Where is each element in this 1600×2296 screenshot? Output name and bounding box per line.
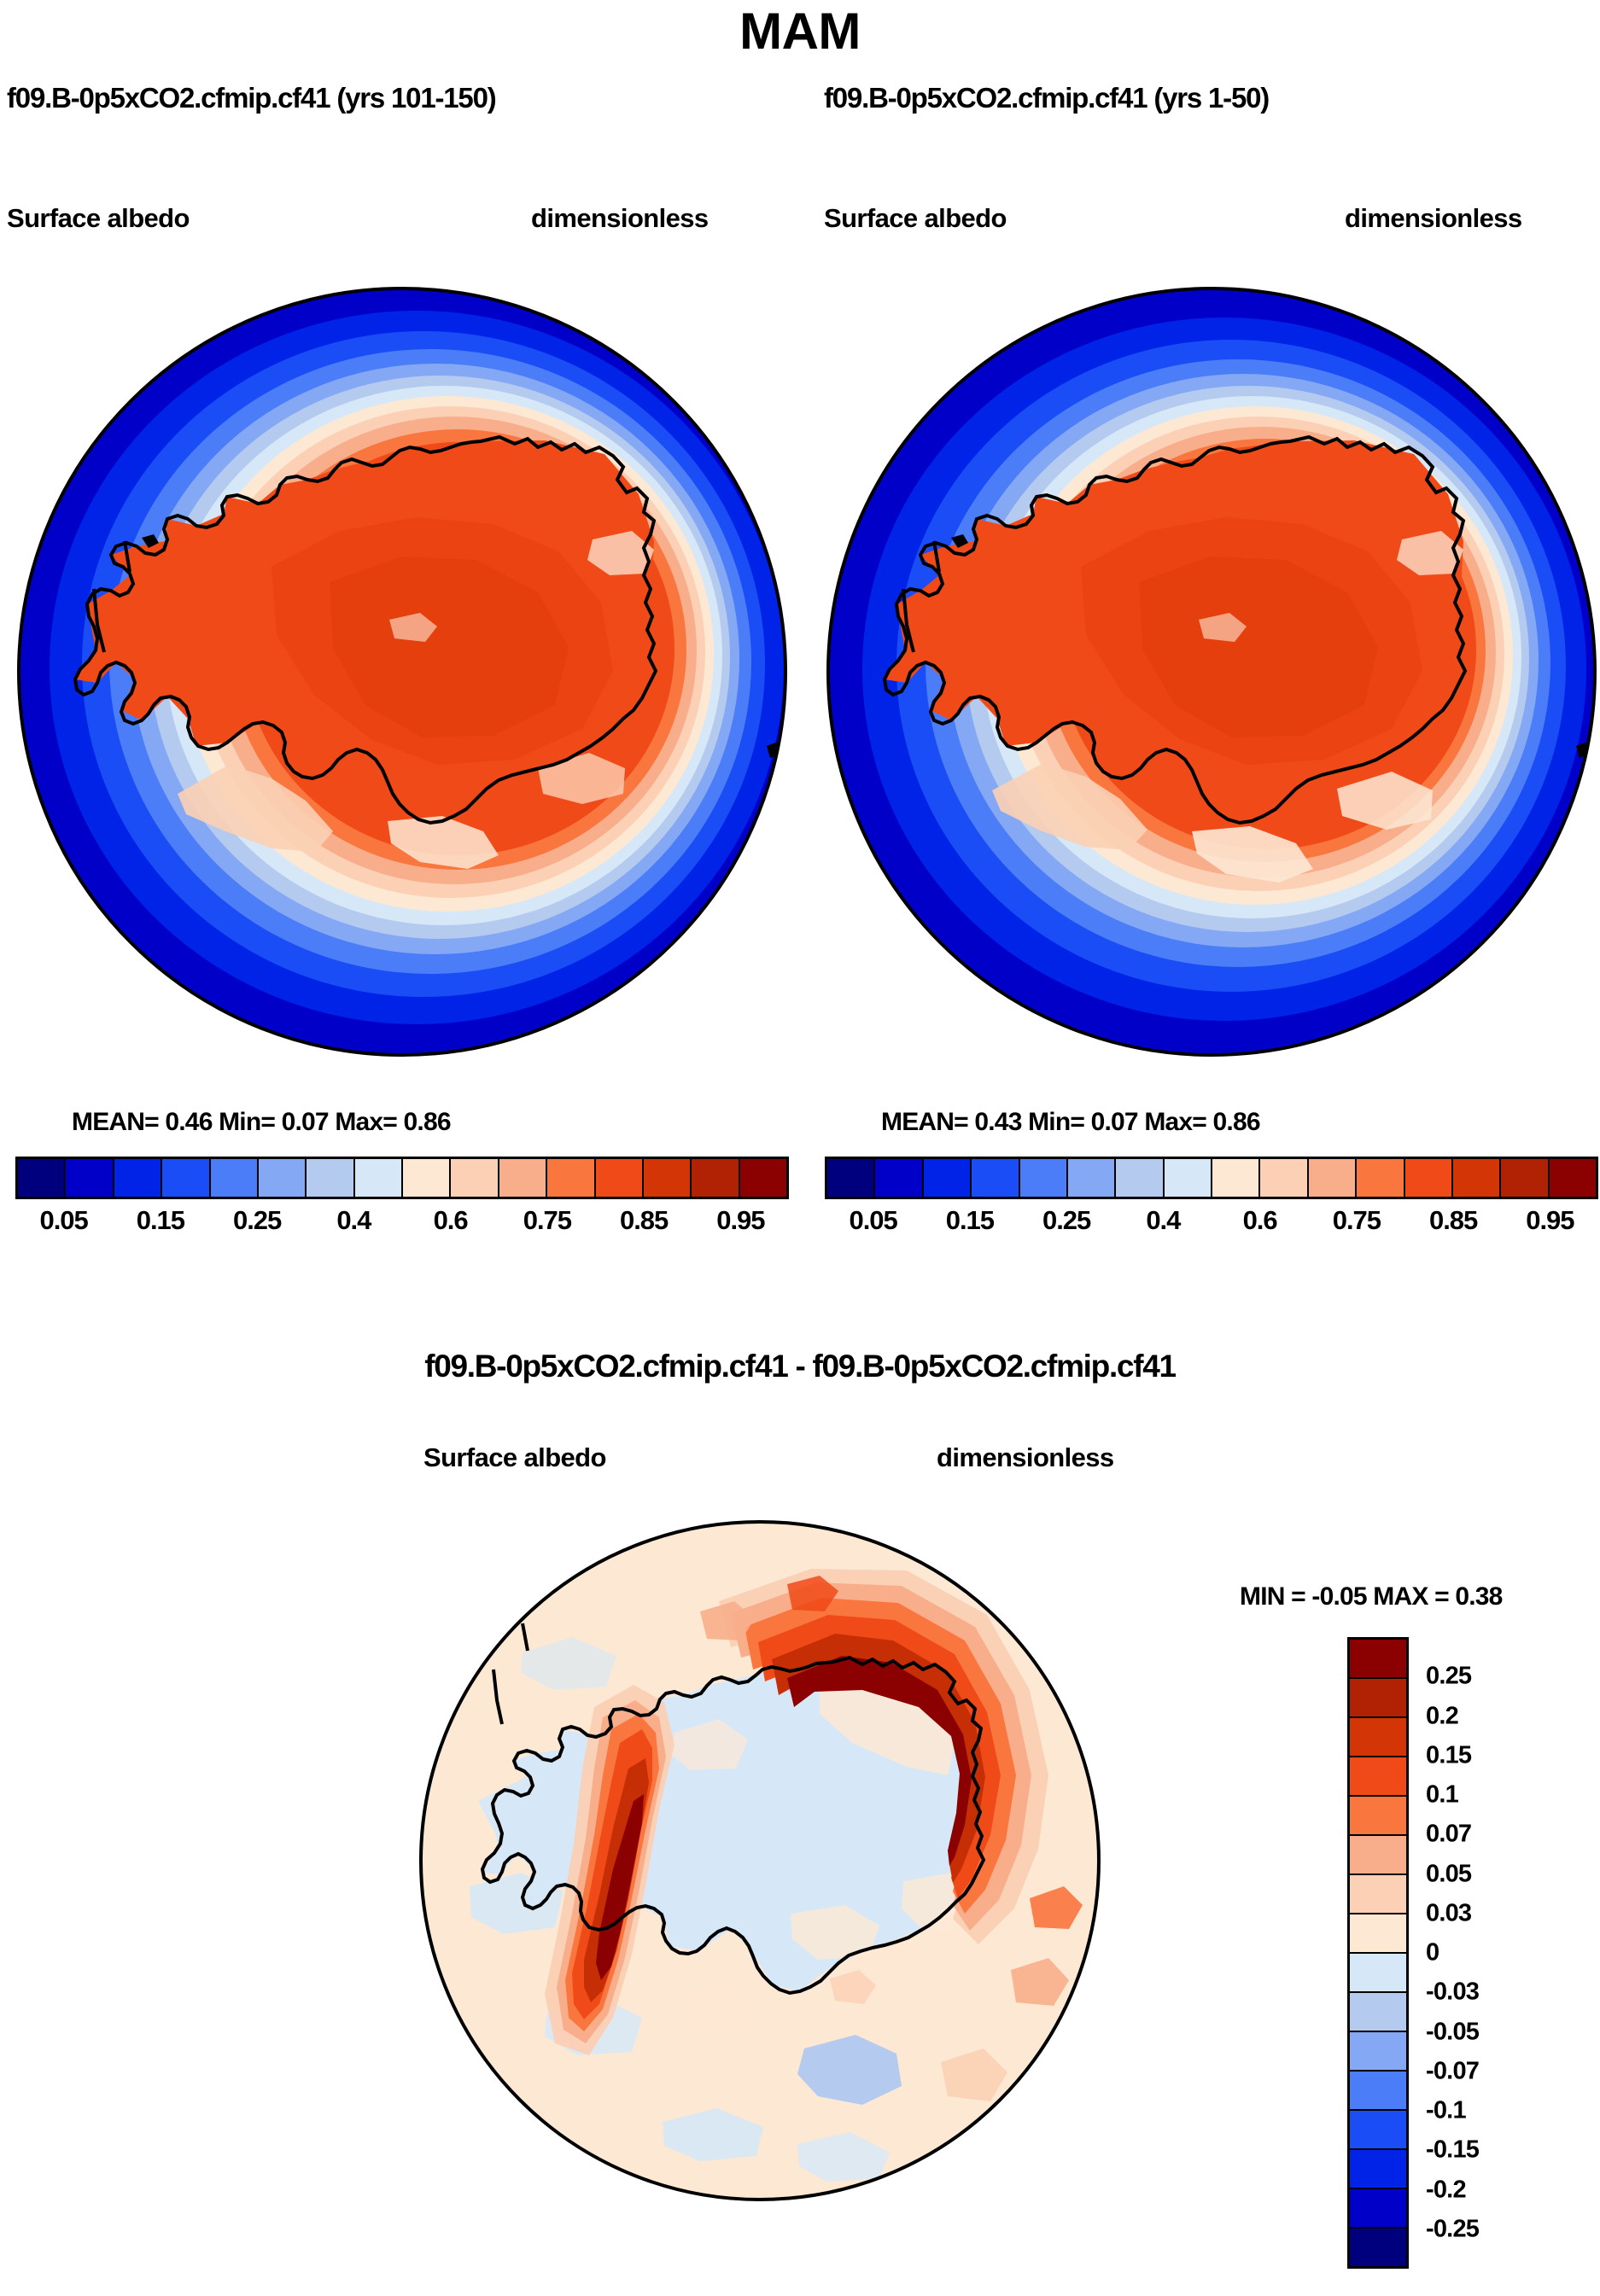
difference-units-label: dimensionless [937, 1442, 1114, 1473]
colorbar-tick-label: -0.07 [1426, 2057, 1479, 2085]
difference-map-svg [418, 1519, 1101, 2202]
colorbar-cell [1350, 1914, 1406, 1954]
colorbar-cell [1350, 2150, 1406, 2189]
colorbar-tick-label: 0.1 [1426, 1781, 1458, 1809]
colorbar-tick-label: 0.6 [1243, 1205, 1277, 1236]
colorbar-cell [1165, 1159, 1212, 1197]
colorbar-cell [1350, 2032, 1406, 2072]
right-polar-map [825, 285, 1598, 1058]
colorbar-cell [1350, 2111, 1406, 2150]
right-colorbar-ticks: 0.050.150.250.40.60.750.850.95 [825, 1205, 1598, 1243]
colorbar-cell [1501, 1159, 1549, 1197]
colorbar-cell [162, 1159, 210, 1197]
colorbar-cell [1212, 1159, 1260, 1197]
colorbar-tick-label: 0.85 [620, 1205, 668, 1236]
colorbar-tick-label: 0.05 [1426, 1860, 1471, 1888]
colorbar-cell [1309, 1159, 1357, 1197]
case-title-left: f09.B-0p5xCO2.cfmip.cf41 (yrs 101-150) [7, 82, 496, 114]
colorbar-cell [1350, 1718, 1406, 1757]
right-map-contours [828, 288, 1595, 1055]
colorbar-cell [1350, 2229, 1406, 2266]
difference-colorbar-ticks: 0.250.20.150.10.070.050.030-0.03-0.05-0.… [1426, 1637, 1597, 2269]
colorbar-cell [403, 1159, 451, 1197]
colorbar-tick-label: 0.15 [1426, 1741, 1471, 1769]
colorbar-tick-label: 0.95 [716, 1205, 764, 1236]
colorbar-cell [451, 1159, 499, 1197]
left-colorbar-ticks: 0.050.150.250.40.60.750.850.95 [15, 1205, 789, 1243]
left-stats: MEAN= 0.46 Min= 0.07 Max= 0.86 [72, 1108, 451, 1137]
colorbar-cell [18, 1159, 66, 1197]
colorbar-cell [1068, 1159, 1116, 1197]
colorbar-cell [547, 1159, 595, 1197]
colorbar-tick-label: 0.05 [849, 1205, 896, 1236]
colorbar-cell [740, 1159, 786, 1197]
colorbar-cell [1116, 1159, 1164, 1197]
colorbar-cell [1350, 2072, 1406, 2111]
colorbar-tick-label: -0.1 [1426, 2097, 1466, 2125]
left-colorbar [15, 1157, 789, 1199]
colorbar-tick-label: 0.25 [233, 1205, 281, 1236]
colorbar-tick-label: 0.15 [137, 1205, 184, 1236]
colorbar-cell [1350, 1640, 1406, 1679]
colorbar-tick-label: 0.4 [336, 1205, 371, 1236]
colorbar-tick-label: 0 [1426, 1939, 1439, 1967]
colorbar-cell [875, 1159, 923, 1197]
left-map-contours [19, 288, 785, 1055]
left-map-svg [15, 285, 789, 1058]
difference-title: f09.B-0p5xCO2.cfmip.cf41 - f09.B-0p5xCO2… [0, 1349, 1600, 1384]
colorbar-tick-label: 0.75 [523, 1205, 571, 1236]
colorbar-cell [644, 1159, 692, 1197]
colorbar-cell [1350, 1875, 1406, 1914]
colorbar-cell [307, 1159, 354, 1197]
colorbar-cell [211, 1159, 259, 1197]
difference-variable-label: Surface albedo [423, 1442, 606, 1473]
colorbar-cell [1020, 1159, 1068, 1197]
left-units-label: dimensionless [531, 203, 709, 234]
colorbar-cell [596, 1159, 644, 1197]
colorbar-tick-label: 0.6 [434, 1205, 468, 1236]
colorbar-cell [355, 1159, 403, 1197]
colorbar-cell [1350, 1993, 1406, 2032]
colorbar-cell [827, 1159, 875, 1197]
colorbar-cell [499, 1159, 547, 1197]
colorbar-tick-label: 0.03 [1426, 1899, 1471, 1927]
difference-minmax: MIN = -0.05 MAX = 0.38 [1240, 1582, 1503, 1611]
difference-map-contours [421, 1522, 1099, 2200]
colorbar-cell [972, 1159, 1019, 1197]
colorbar-cell [692, 1159, 739, 1197]
right-variable-label: Surface albedo [824, 203, 1007, 234]
colorbar-tick-label: 0.85 [1429, 1205, 1477, 1236]
colorbar-tick-label: 0.2 [1426, 1702, 1458, 1730]
colorbar-tick-label: 0.25 [1042, 1205, 1090, 1236]
colorbar-tick-label: -0.03 [1426, 1978, 1479, 2007]
colorbar-tick-label: -0.05 [1426, 2018, 1479, 2046]
difference-polar-map [418, 1519, 1101, 2202]
case-title-right: f09.B-0p5xCO2.cfmip.cf41 (yrs 1-50) [824, 82, 1269, 114]
colorbar-cell [259, 1159, 307, 1197]
page-title: MAM [0, 2, 1600, 61]
right-stats: MEAN= 0.43 Min= 0.07 Max= 0.86 [881, 1108, 1260, 1137]
colorbar-cell [924, 1159, 972, 1197]
colorbar-cell [66, 1159, 114, 1197]
right-colorbar [825, 1157, 1598, 1199]
colorbar-cell [1350, 1954, 1406, 1993]
colorbar-cell [1350, 1757, 1406, 1797]
difference-colorbar [1347, 1637, 1409, 2269]
colorbar-cell [1453, 1159, 1501, 1197]
colorbar-tick-label: -0.2 [1426, 2176, 1466, 2204]
colorbar-tick-label: 0.25 [1426, 1663, 1471, 1691]
left-polar-map [15, 285, 789, 1058]
colorbar-tick-label: 0.95 [1526, 1205, 1574, 1236]
colorbar-tick-label: 0.75 [1333, 1205, 1381, 1236]
colorbar-cell [114, 1159, 162, 1197]
colorbar-cell [1350, 1797, 1406, 1836]
right-map-svg [825, 285, 1598, 1058]
colorbar-cell [1260, 1159, 1308, 1197]
colorbar-cell [1405, 1159, 1453, 1197]
colorbar-tick-label: 0.05 [39, 1205, 87, 1236]
colorbar-cell [1357, 1159, 1404, 1197]
colorbar-tick-label: -0.15 [1426, 2136, 1479, 2165]
colorbar-tick-label: 0.4 [1146, 1205, 1180, 1236]
colorbar-cell [1350, 2189, 1406, 2229]
colorbar-tick-label: 0.15 [946, 1205, 994, 1236]
colorbar-tick-label: -0.25 [1426, 2215, 1479, 2243]
colorbar-cell [1550, 1159, 1596, 1197]
colorbar-cell [1350, 1679, 1406, 1718]
colorbar-tick-label: 0.07 [1426, 1821, 1471, 1849]
left-variable-label: Surface albedo [7, 203, 190, 234]
right-units-label: dimensionless [1345, 203, 1522, 234]
colorbar-cell [1350, 1836, 1406, 1875]
